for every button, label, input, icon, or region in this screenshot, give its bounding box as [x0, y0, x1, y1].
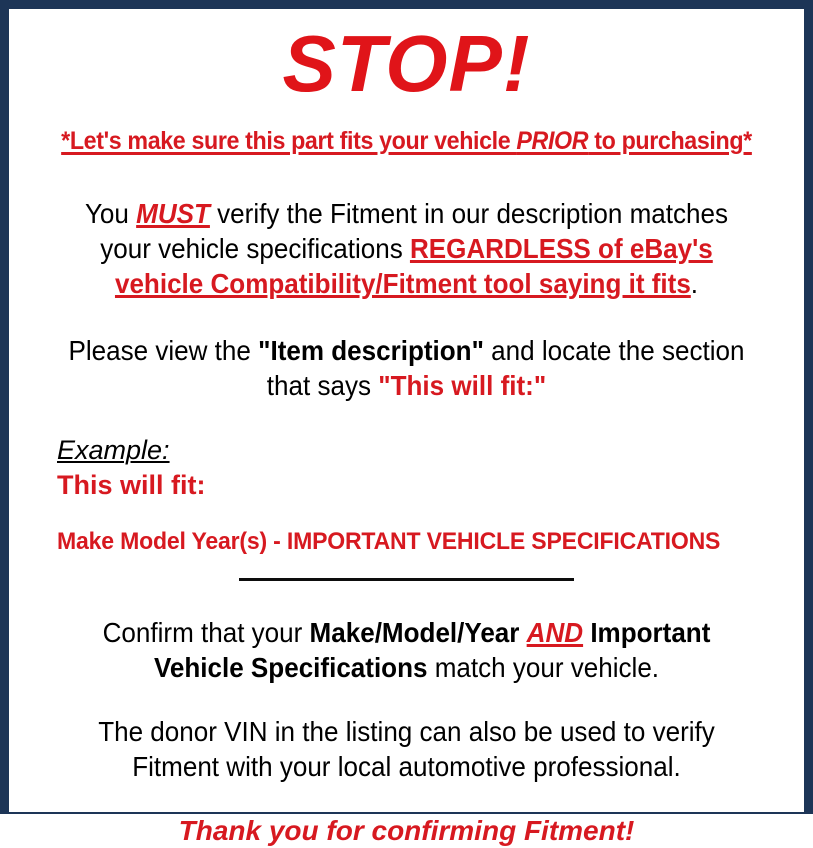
subtitle-emphasis: PRIOR [516, 127, 588, 155]
fitment-notice-card: STOP! *Let's make sure this part fits yo… [0, 0, 813, 814]
paragraph-donor-vin: The donor VIN in the listing can also be… [44, 714, 768, 784]
para3-seg2 [519, 617, 526, 648]
para2-seg1: Please view the [68, 335, 258, 366]
para2-emphasis-item-description: "Item description" [258, 335, 484, 366]
example-label-row: Example: [57, 435, 796, 466]
example-label: Example: [57, 435, 170, 466]
para3-seg4: match your vehicle. [427, 652, 659, 683]
closing-thank-you: Thank you for confirming Fitment! [17, 814, 796, 848]
subtitle-banner: *Let's make sure this part fits your veh… [44, 126, 768, 156]
para1-emphasis-must: MUST [136, 198, 210, 229]
para2-emphasis-this-will-fit: "This will fit:" [378, 370, 546, 401]
notice-inner: STOP! *Let's make sure this part fits yo… [9, 16, 804, 812]
example-fit-heading: This will fit: [57, 469, 796, 501]
subtitle-tail: to purchasing* [588, 127, 752, 155]
para1-seg3: . [691, 268, 698, 299]
para1-seg1: You [85, 198, 136, 229]
para3-seg1: Confirm that your [103, 617, 310, 648]
paragraph-must-verify: You MUST verify the Fitment in our descr… [44, 196, 768, 301]
horizontal-rule [239, 578, 574, 581]
para3-emphasis-and: AND [527, 617, 583, 648]
page-title: STOP! [17, 16, 796, 112]
example-block: Example: This will fit: Make Model Year(… [17, 435, 796, 556]
para3-emphasis-make-model-year: Make/Model/Year [310, 617, 520, 648]
example-spec-line: Make Model Year(s) - IMPORTANT VEHICLE S… [57, 528, 766, 556]
subtitle-lead: *Let's make sure this part fits your veh… [61, 127, 516, 155]
paragraph-confirm-match: Confirm that your Make/Model/Year AND Im… [44, 615, 768, 685]
divider-wrap [17, 577, 796, 581]
paragraph-item-description: Please view the "Item description" and l… [44, 333, 768, 403]
